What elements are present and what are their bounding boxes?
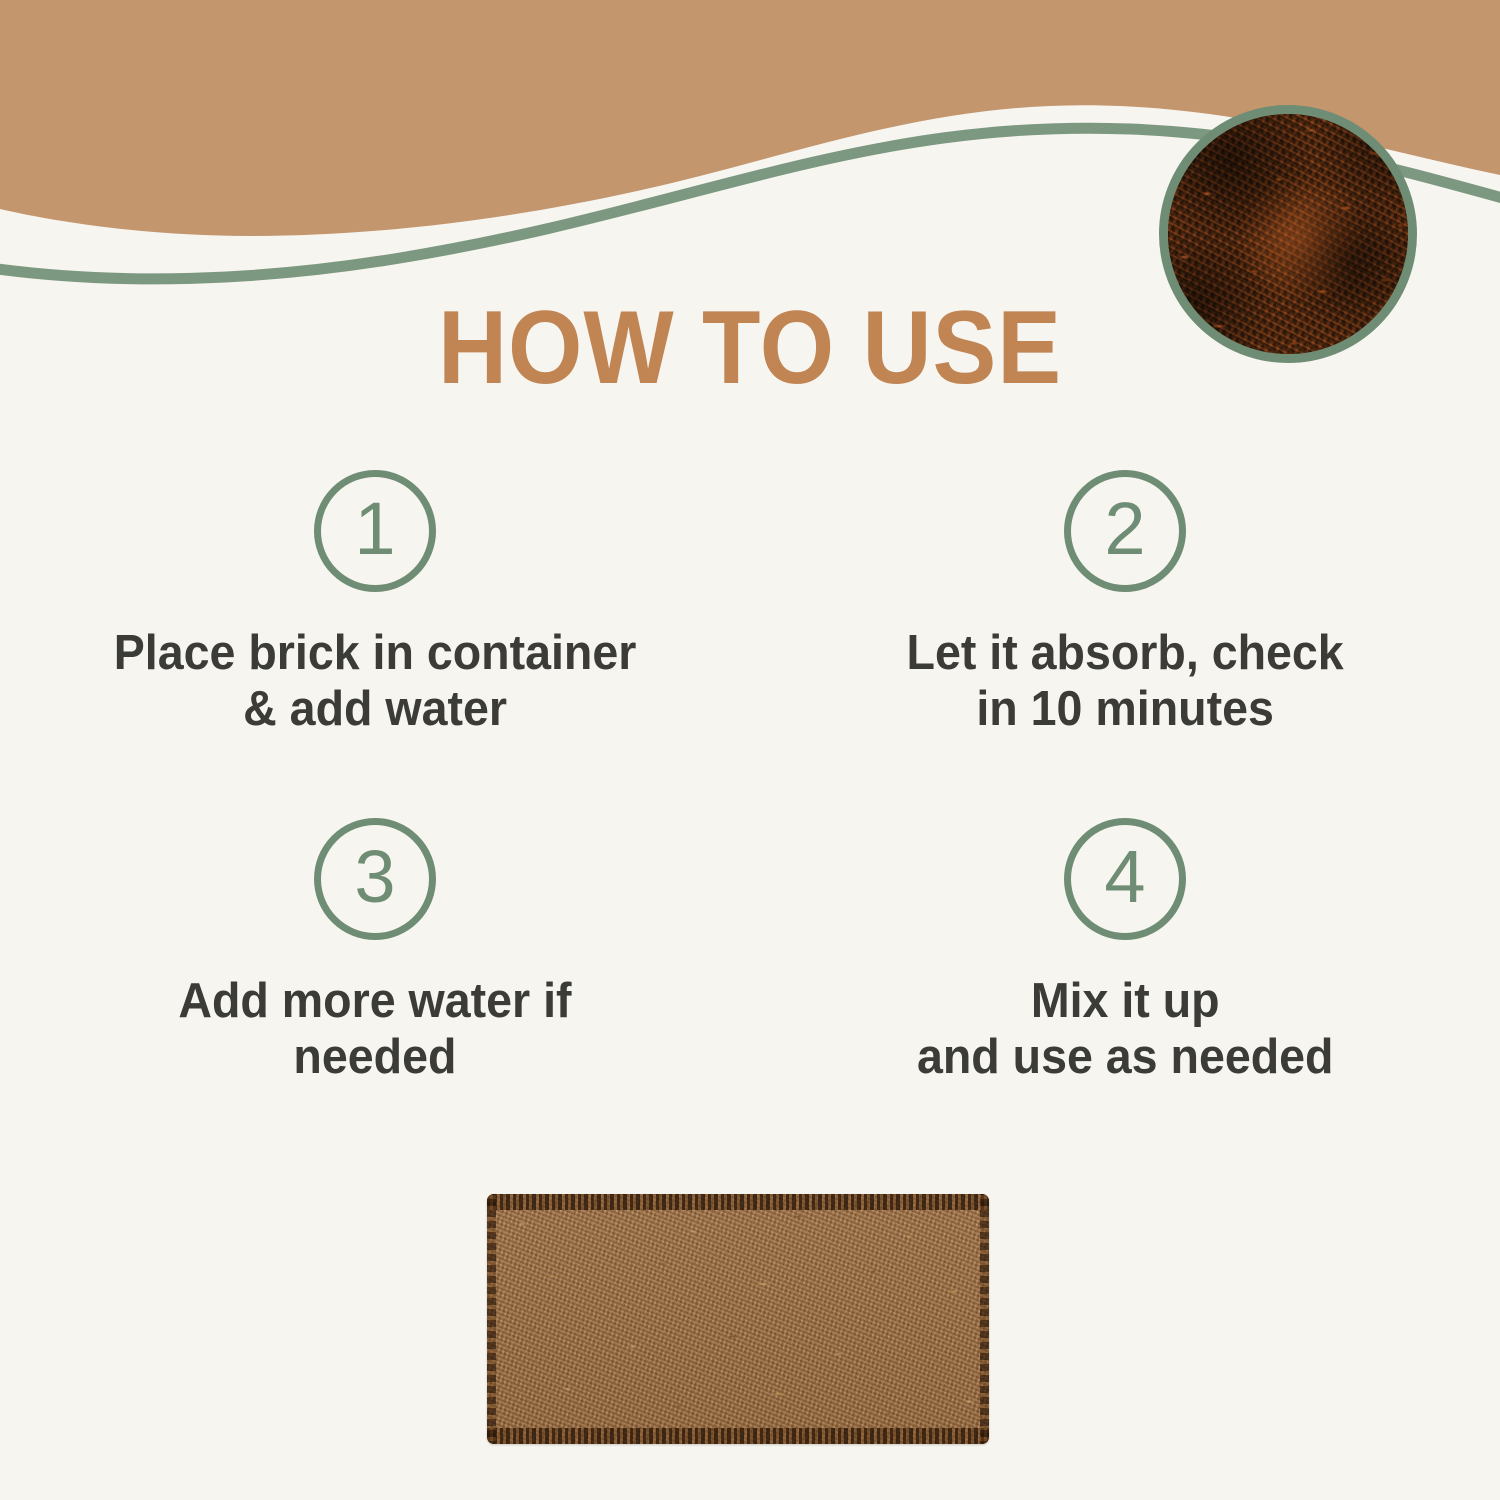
step-label-4: Mix it up and use as needed (917, 974, 1334, 1086)
steps-grid: 1 Place brick in container & add water 2… (0, 470, 1500, 1166)
step-item-4: 4 Mix it up and use as needed (750, 818, 1500, 1166)
step-item-1: 1 Place brick in container & add water (0, 470, 750, 818)
step-label-3: Add more water if needed (178, 974, 571, 1086)
step-item-3: 3 Add more water if needed (0, 818, 750, 1166)
coir-brick-photo (487, 1194, 989, 1444)
step-number-badge-1: 1 (314, 470, 436, 592)
page-title: HOW TO USE (60, 296, 1440, 400)
step-item-2: 2 Let it absorb, check in 10 minutes (750, 470, 1500, 818)
brick-right-edge (980, 1194, 989, 1444)
brick-texture (487, 1194, 989, 1444)
brick-top-edge (487, 1194, 989, 1210)
step-label-2: Let it absorb, check in 10 minutes (906, 626, 1343, 738)
step-label-1: Place brick in container & add water (114, 626, 637, 738)
step-number-badge-4: 4 (1064, 818, 1186, 940)
step-number-badge-2: 2 (1064, 470, 1186, 592)
infographic-canvas: HOW TO USE 1 Place brick in container & … (0, 0, 1500, 1500)
step-number-badge-3: 3 (314, 818, 436, 940)
brick-bottom-edge (487, 1428, 989, 1444)
brick-left-edge (487, 1194, 496, 1444)
